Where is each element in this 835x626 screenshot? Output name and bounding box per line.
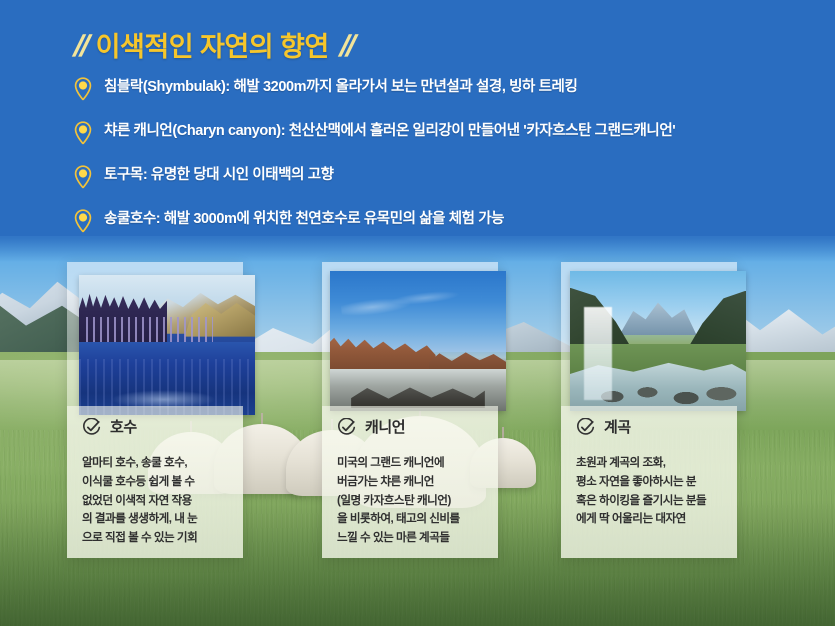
charyn-canyon-photo [330,271,506,411]
card-valley: 계곡 초원과 계곡의 조화, 평소 자연을 좋아하시는 분 혹은 하이킹을 즐기… [561,418,737,529]
circle-check-icon [82,418,101,437]
card-body-text: 알마티 호수, 송쿨 호수, 이식쿨 호수등 쉽게 볼 수 없었던 이색적 자연… [67,454,243,548]
card-title: 캐니언 [365,420,405,435]
circle-check-icon [576,418,595,437]
card-header: 계곡 [561,418,737,437]
card-body-text: 미국의 그랜드 캐니언에 버금가는 챠른 캐니언 (일명 카자흐스탄 캐니언) … [322,454,498,548]
card-group: 호수 알마티 호수, 송쿨 호수, 이식쿨 호수등 쉽게 볼 수 없었던 이색적… [0,0,835,626]
mountain-valley-river-photo [570,271,746,411]
card-header: 캐니언 [322,418,498,437]
slide-canvas: // 이색적인 자연의 향연 // 침블락(Shymbulak): 해발 320… [0,0,835,626]
card-title: 계곡 [604,420,631,435]
card-body-text: 초원과 계곡의 조화, 평소 자연을 좋아하시는 분 혹은 하이킹을 즐기시는 … [561,454,737,529]
card-canyon: 캐니언 미국의 그랜드 캐니언에 버금가는 챠른 캐니언 (일명 카자흐스탄 캐… [322,418,498,548]
circle-check-icon [337,418,356,437]
card-lake: 호수 알마티 호수, 송쿨 호수, 이식쿨 호수등 쉽게 볼 수 없었던 이색적… [67,418,243,548]
card-header: 호수 [67,418,243,437]
card-title: 호수 [110,420,137,435]
lake-with-sunken-trees-photo [79,275,255,415]
